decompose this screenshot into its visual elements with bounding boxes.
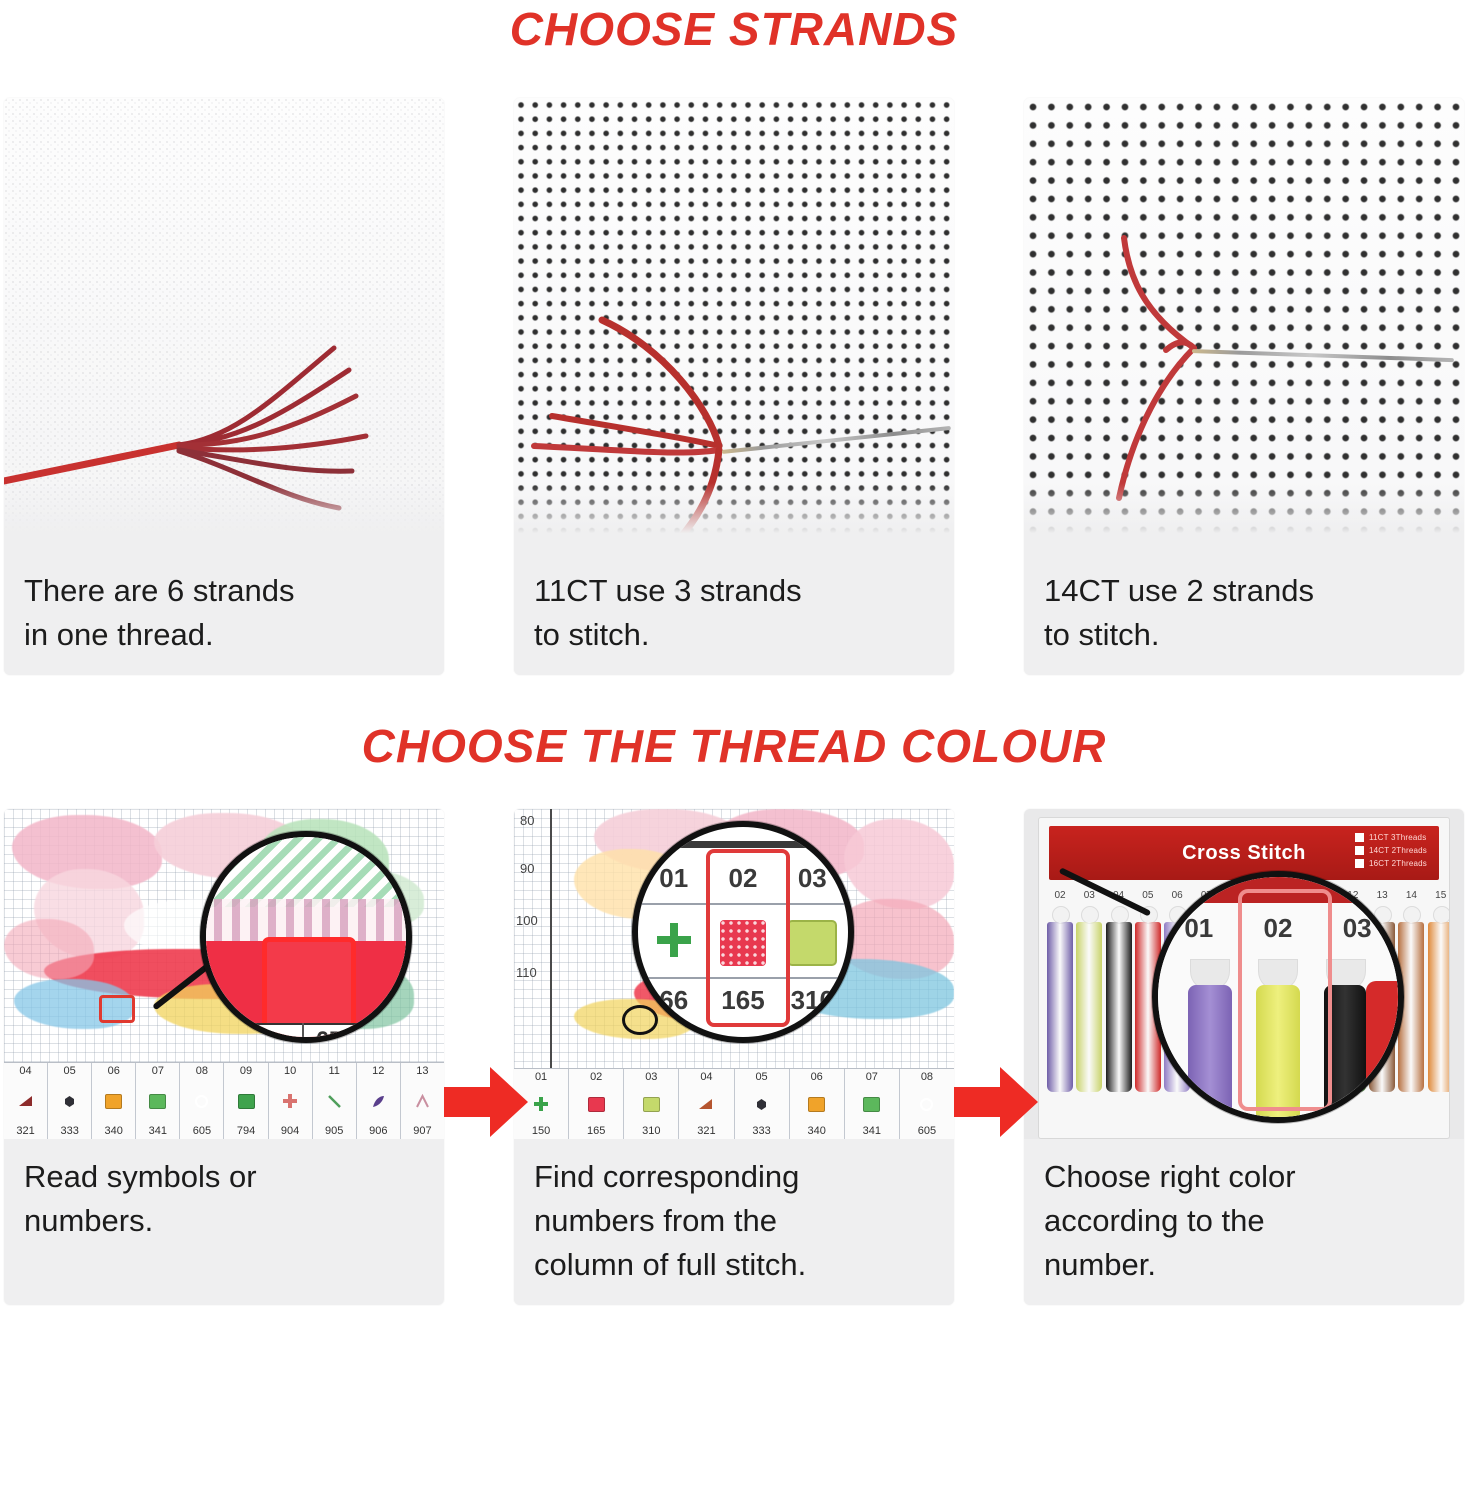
legend-symbol [18, 1092, 34, 1110]
legend-number: 10 [284, 1065, 296, 1077]
pack-check-item: 11CT 3Threads [1355, 833, 1427, 842]
thread-skein [1076, 922, 1102, 1092]
mag-symbol-cell [639, 917, 708, 970]
magnifier-lens: 01 02 03 [632, 821, 854, 1043]
photo-thread-pack: Cross Stitch 11CT 3Threads 14CT 2Threads [1024, 809, 1464, 1139]
photo-six-strands [4, 98, 444, 553]
legend-symbol [194, 1092, 209, 1110]
legend-code: 905 [325, 1125, 343, 1137]
legend-column: 08605 [180, 1063, 224, 1139]
caption-line-2: in one thread. [24, 613, 424, 657]
legend-code: 341 [863, 1125, 881, 1137]
pattern-chart: 07 0432105333063400734108605097941090411… [4, 809, 444, 1139]
card-11ct: 11CT use 3 strands to stitch. [514, 98, 954, 675]
card-read-symbols: 07 0432105333063400734108605097941090411… [4, 809, 444, 1305]
triangle-icon [18, 1094, 34, 1108]
caption-read-symbols: Read symbols or numbers. [4, 1139, 444, 1261]
legend-symbol [62, 1092, 77, 1110]
legend-column: 08605 [900, 1069, 954, 1139]
legend-column: 02165 [569, 1069, 624, 1139]
skein-number: 14 [1398, 890, 1424, 901]
square-swatch-icon [808, 1097, 825, 1112]
legend-code: 333 [60, 1125, 78, 1137]
caption-line-3: number. [1044, 1243, 1444, 1287]
legend-symbol [588, 1095, 605, 1113]
legend-column: 04321 [4, 1063, 48, 1139]
arch-icon [415, 1094, 430, 1109]
legend-number: 04 [19, 1065, 31, 1077]
skein-purple [1188, 985, 1232, 1117]
legend-code: 605 [918, 1125, 936, 1137]
legend-code: 321 [697, 1125, 715, 1137]
green-square-swatch [787, 920, 837, 966]
legend-number: 02 [590, 1071, 602, 1083]
legend-column: 07341 [845, 1069, 900, 1139]
chart-highlight-box [99, 995, 135, 1023]
thread-skein [1428, 922, 1450, 1092]
magnifier-lens: 01 02 03 [1152, 871, 1404, 1123]
card-find-numbers: 80 90 100 110 01 02 03 [514, 809, 954, 1305]
thread-colour-card-row: 07 0432105333063400734108605097941090411… [0, 809, 1468, 1305]
legend-number: 05 [64, 1065, 76, 1077]
caption-6-strands: There are 6 strands in one thread. [4, 553, 444, 675]
page-title-choose-thread-colour: CHOOSE THE THREAD COLOUR [0, 713, 1468, 781]
caption-line-2: numbers from the [534, 1199, 934, 1243]
legend-column: 07341 [136, 1063, 180, 1139]
legend-symbol [643, 1095, 660, 1113]
legend-symbol [754, 1095, 769, 1113]
legend-symbol [149, 1092, 166, 1110]
chart-axis-line [550, 809, 552, 1073]
photo-chart-numbers: 80 90 100 110 01 02 03 [514, 809, 954, 1139]
photo-14ct-aida [1024, 98, 1464, 553]
legend-symbol [371, 1092, 386, 1110]
cross-icon [651, 917, 697, 963]
card-6-strands: There are 6 strands in one thread. [4, 98, 444, 675]
legend-column: 12906 [357, 1063, 401, 1139]
checkbox-icon [1355, 859, 1364, 868]
magnifier-highlight-box [706, 849, 790, 1027]
axis-label: 90 [520, 861, 534, 876]
legend-column: 03310 [624, 1069, 679, 1139]
caption-choose-color: Choose right color according to the numb… [1024, 1139, 1464, 1305]
pack-check-label: 11CT 3Threads [1369, 833, 1426, 842]
legend-number: 11 [328, 1065, 339, 1077]
caption-line-2: to stitch. [1044, 613, 1444, 657]
leaf-icon [371, 1094, 386, 1109]
legend-number: 07 [152, 1065, 164, 1077]
magnifier-lens: 07 [200, 831, 412, 1043]
legend-code: 321 [16, 1125, 34, 1137]
legend-symbol [698, 1095, 714, 1113]
caption-line-1: 11CT use 3 strands [534, 569, 934, 613]
caption-line-3: column of full stitch. [534, 1243, 934, 1287]
square-swatch-icon [863, 1097, 880, 1112]
pack-title: Cross Stitch [1182, 842, 1306, 865]
page-title-choose-strands: CHOOSE STRANDS [0, 0, 1468, 64]
cross-icon [282, 1093, 298, 1109]
slash-icon [327, 1094, 342, 1109]
legend-number: 01 [535, 1071, 547, 1083]
legend-column: 10904 [269, 1063, 313, 1139]
card-14ct: 14CT use 2 strands to stitch. [1024, 98, 1464, 675]
legend-symbol [238, 1092, 255, 1110]
legend-symbol [282, 1092, 298, 1110]
photo-bottom-fade [4, 483, 444, 553]
caption-line-1: Choose right color [1044, 1155, 1444, 1199]
axis-label: 80 [520, 813, 534, 828]
square-swatch-icon [643, 1097, 660, 1112]
thread-skein [1047, 922, 1073, 1092]
legend-number: 08 [196, 1065, 208, 1077]
checkbox-icon [1355, 833, 1364, 842]
caption-line-1: Find corresponding [534, 1155, 934, 1199]
strands-card-row: There are 6 strands in one thread. [0, 98, 1468, 675]
legend-code: 906 [369, 1125, 387, 1137]
legend-symbol [808, 1095, 825, 1113]
legend-column: 11905 [313, 1063, 357, 1139]
square-swatch-icon [105, 1094, 122, 1109]
caption-line-1: Read symbols or [24, 1155, 424, 1199]
pack-check-label: 14CT 2Threads [1369, 846, 1427, 855]
pack-check-label: 16CT 2Threads [1369, 859, 1427, 868]
pattern-chart: 80 90 100 110 01 02 03 [514, 809, 954, 1139]
circle-icon [919, 1097, 934, 1112]
pack-check-item: 16CT 2Threads [1355, 859, 1427, 868]
arrow-right-icon-2 [954, 1065, 1038, 1139]
photo-bottom-fade [514, 483, 954, 553]
mag-number: 01 [1159, 913, 1238, 944]
legend-column: 05333 [735, 1069, 790, 1139]
legend-code: 150 [532, 1125, 550, 1137]
hexagon-icon [754, 1097, 769, 1112]
caption-line-1: There are 6 strands [24, 569, 424, 613]
legend-code: 340 [105, 1125, 123, 1137]
legend-column: 13907 [401, 1063, 444, 1139]
photo-11ct-aida [514, 98, 954, 553]
hexagon-icon [62, 1094, 77, 1109]
infographic-page: CHOOSE STRANDS [0, 0, 1468, 1500]
caption-find-numbers: Find corresponding numbers from the colu… [514, 1139, 954, 1305]
caption-11ct: 11CT use 3 strands to stitch. [514, 553, 954, 675]
legend-code: 165 [587, 1125, 605, 1137]
legend-number: 12 [372, 1065, 384, 1077]
photo-bottom-fade [1024, 483, 1464, 553]
legend-number: 09 [240, 1065, 252, 1077]
pack-checklist: 11CT 3Threads 14CT 2Threads 16CT 2Thread… [1355, 833, 1427, 872]
mag-number: 01 [639, 863, 708, 894]
skein-number: 15 [1428, 890, 1450, 901]
skein-number: 02 [1047, 890, 1073, 901]
legend-number: 04 [700, 1071, 712, 1083]
legend-number: 03 [645, 1071, 657, 1083]
legend-code: 605 [193, 1125, 211, 1137]
legend-code: 310 [642, 1125, 660, 1137]
cross-icon [533, 1096, 549, 1112]
arrow-right-icon-1 [444, 1065, 528, 1139]
legend-symbol [105, 1092, 122, 1110]
thread-pack: Cross Stitch 11CT 3Threads 14CT 2Threads [1024, 809, 1464, 1139]
legend-code: 904 [281, 1125, 299, 1137]
legend-code: 340 [808, 1125, 826, 1137]
legend-symbol [863, 1095, 880, 1113]
legend-number: 05 [755, 1071, 767, 1083]
legend-symbol [919, 1095, 934, 1113]
pack-banner: Cross Stitch 11CT 3Threads 14CT 2Threads [1049, 826, 1439, 880]
legend-code: 907 [413, 1125, 431, 1137]
legend-number: 13 [416, 1065, 428, 1077]
photo-pattern-chart: 07 0432105333063400734108605097941090411… [4, 809, 444, 1139]
pack-check-item: 14CT 2Threads [1355, 846, 1427, 855]
square-swatch-icon [588, 1097, 605, 1112]
legend-symbol [533, 1095, 549, 1113]
legend-code: 333 [752, 1125, 770, 1137]
circle-icon [194, 1094, 209, 1109]
legend-number: 06 [811, 1071, 823, 1083]
legend-strip: 0432105333063400734108605097941090411905… [4, 1062, 444, 1139]
legend-symbol [415, 1092, 430, 1110]
legend-strip: 0115002165033100432105333063400734108605 [514, 1068, 954, 1139]
card-choose-color: Cross Stitch 11CT 3Threads 14CT 2Threads [1024, 809, 1464, 1305]
caption-line-2: according to the [1044, 1199, 1444, 1243]
checkbox-icon [1355, 846, 1364, 855]
axis-label: 100 [516, 913, 538, 928]
square-swatch-icon [149, 1094, 166, 1109]
legend-column: 04321 [679, 1069, 734, 1139]
magnifier-highlight-box [1238, 889, 1332, 1111]
legend-number: 08 [921, 1071, 933, 1083]
caption-line-2: numbers. [24, 1199, 424, 1243]
legend-symbol [327, 1092, 342, 1110]
legend-code: 341 [149, 1125, 167, 1137]
legend-column: 05333 [48, 1063, 92, 1139]
caption-line-2: to stitch. [534, 613, 934, 657]
legend-number: 07 [866, 1071, 878, 1083]
legend-column: 06340 [92, 1063, 136, 1139]
square-swatch-icon [238, 1094, 255, 1109]
caption-line-1: 14CT use 2 strands [1044, 569, 1444, 613]
legend-column: 09794 [224, 1063, 268, 1139]
thread-skein [1106, 922, 1132, 1092]
axis-label: 110 [516, 965, 537, 980]
legend-number: 06 [108, 1065, 120, 1077]
caption-14ct: 14CT use 2 strands to stitch. [1024, 553, 1464, 675]
legend-column: 06340 [790, 1069, 845, 1139]
triangle-icon [698, 1097, 714, 1111]
legend-code: 794 [237, 1125, 255, 1137]
chart-highlight-circle [622, 1005, 658, 1035]
skein-number: 05 [1135, 890, 1161, 901]
